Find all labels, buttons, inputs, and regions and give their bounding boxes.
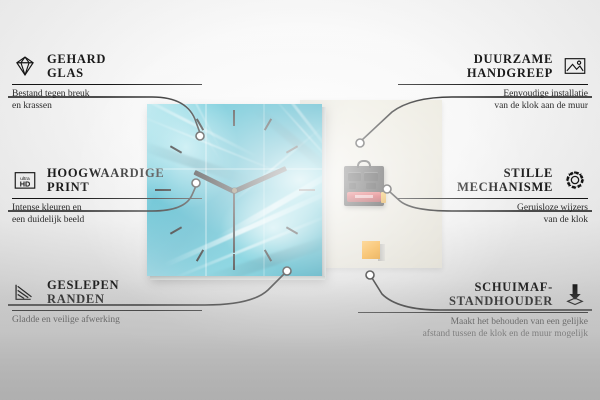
callout-divider: [358, 312, 588, 313]
clock-tick: [233, 254, 235, 270]
callout-duurzame-handgreep[interactable]: DUURZAME HANDGREEP Eenvoudige installati…: [398, 52, 588, 112]
callout-subtitle: Bestand tegen breuk en krassen: [12, 89, 202, 112]
callout-header: STILLE MECHANISME: [398, 166, 588, 194]
connector-dot-1: [196, 132, 204, 140]
callout-subtitle: Intense kleuren en een duidelijk beeld: [12, 203, 202, 226]
callout-divider: [12, 84, 202, 85]
clock-tick: [196, 249, 204, 261]
callout-title: DUURZAME HANDGREEP: [398, 52, 553, 80]
callout-header: GEHARD GLAS: [12, 52, 202, 80]
callout-stille-mechanisme[interactable]: STILLE MECHANISME Geruisloze wijzers van…: [398, 166, 588, 226]
connector-dot-4: [356, 139, 364, 147]
battery-terminal: [381, 192, 386, 203]
callout-hoogwaardige-print[interactable]: ultra HD HOOGWAARDIGE PRINT Intense kleu…: [12, 166, 202, 226]
callout-header: ultra HD HOOGWAARDIGE PRINT: [12, 166, 202, 194]
callout-divider: [12, 198, 202, 199]
picture-frame-icon: [562, 53, 588, 79]
down-arrow-pad-icon: [562, 281, 588, 307]
clock-tick: [170, 226, 182, 234]
glass-seam: [263, 104, 265, 276]
movement-slot: [366, 183, 376, 189]
clock-tick: [196, 118, 204, 130]
diamond-icon: [12, 53, 38, 79]
polished-edges-icon: [12, 279, 38, 305]
gear-icon: [562, 167, 588, 193]
callout-title: GESLEPEN RANDEN: [47, 278, 202, 306]
callout-subtitle: Eenvoudige installatie van de klok aan d…: [398, 89, 588, 112]
glass-seam: [205, 104, 207, 276]
callout-schuimafstandhouder[interactable]: SCHUIMAF- STANDHOUDER Maakt het behouden…: [358, 280, 588, 340]
clock-hands-hub: [232, 188, 237, 193]
battery: [347, 192, 381, 202]
callout-header: SCHUIMAF- STANDHOUDER: [358, 280, 588, 308]
callout-geslepen-randen[interactable]: GESLEPEN RANDEN Gladde en veilige afwerk…: [12, 278, 202, 327]
movement-slot: [364, 172, 378, 181]
hanging-hook-icon: [357, 160, 371, 168]
callout-divider: [398, 198, 588, 199]
battery-label: [355, 195, 373, 198]
product-infographic: GEHARD GLAS Bestand tegen breuk en krass…: [0, 0, 600, 400]
callout-divider: [12, 310, 202, 311]
callout-title: HOOGWAARDIGE PRINT: [47, 166, 202, 194]
clock-tick: [286, 145, 298, 153]
callout-divider: [398, 84, 588, 85]
clock-tick: [170, 145, 182, 153]
callout-header: DUURZAME HANDGREEP: [398, 52, 588, 80]
connector-dot-3: [283, 267, 291, 275]
callout-subtitle: Maakt het behouden van een gelijke afsta…: [358, 317, 588, 340]
callout-subtitle: Geruisloze wijzers van de klok: [398, 203, 588, 226]
minute-hand: [233, 166, 287, 194]
movement-slot: [349, 183, 356, 189]
clock-tick: [264, 249, 272, 261]
second-hand: [233, 191, 235, 253]
foam-spacer-pad: [362, 241, 380, 259]
movement-slot: [348, 172, 361, 181]
clock-tick: [233, 110, 235, 126]
clock-tick: [264, 118, 272, 130]
glass-edge-right: [322, 107, 326, 279]
clock-tick: [286, 226, 298, 234]
clock-movement: [344, 166, 384, 206]
connector-dot-6: [366, 271, 374, 279]
clock-tick: [299, 189, 315, 191]
callout-gehard-glas[interactable]: GEHARD GLAS Bestand tegen breuk en krass…: [12, 52, 202, 112]
callout-title: STILLE MECHANISME: [398, 166, 553, 194]
ultra-hd-icon: ultra HD: [12, 167, 38, 193]
callout-title: SCHUIMAF- STANDHOUDER: [358, 280, 553, 308]
svg-text:HD: HD: [20, 180, 31, 189]
foam-pad-shadow: [378, 244, 385, 261]
callout-header: GESLEPEN RANDEN: [12, 278, 202, 306]
callout-title: GEHARD GLAS: [47, 52, 202, 80]
callout-subtitle: Gladde en veilige afwerking: [12, 315, 202, 327]
connector-dot-5: [383, 185, 391, 193]
